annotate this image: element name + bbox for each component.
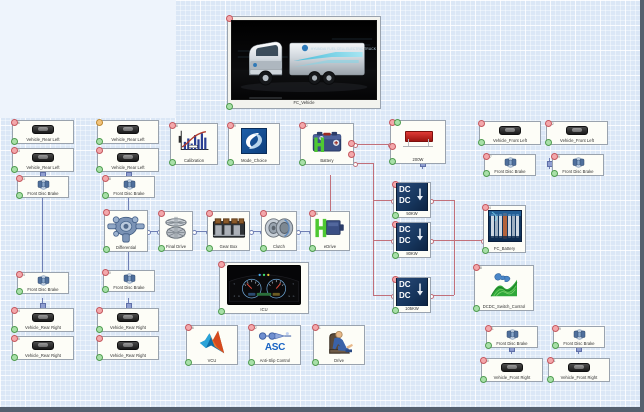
disc-brake-icon	[553, 155, 603, 169]
block-port-red[interactable]	[11, 335, 18, 342]
block-port-green[interactable]	[260, 245, 267, 252]
block-port-green[interactable]	[169, 159, 176, 166]
block-port-red[interactable]	[547, 357, 554, 364]
block-caption: Front Disc Brake	[485, 169, 535, 175]
system-sketch-window: HYUNDAI FUEL CELL ELECTRIC TRUCK	[0, 0, 644, 412]
block-port-red[interactable]	[102, 175, 109, 182]
block-port-red[interactable]	[185, 324, 192, 331]
block-port-red[interactable]	[102, 269, 109, 276]
block-port-red[interactable]	[96, 147, 103, 154]
block-vehicle-rear-right[interactable]: 6 Vehicle_Rear Right	[97, 308, 159, 332]
disc-brake-icon	[18, 273, 68, 287]
block-vehicle-rear-right[interactable]: 5 Vehicle_Rear Right	[97, 336, 159, 360]
block-port-green[interactable]	[392, 307, 399, 314]
asc-icon: ASC	[250, 326, 300, 358]
block-caption: Front Disc Brake	[104, 285, 154, 291]
driver-icon	[314, 326, 364, 358]
block-port-green[interactable]	[473, 305, 480, 312]
block-port-green[interactable]	[11, 166, 18, 173]
block-port-red[interactable]	[16, 175, 23, 182]
block-port-red[interactable]	[158, 210, 165, 217]
block-port-green[interactable]	[11, 354, 18, 361]
block-front-disc-brake[interactable]: 23 Front Disc Brake	[17, 176, 69, 198]
block-port-green[interactable]	[206, 245, 213, 252]
tyre-icon	[13, 149, 73, 165]
tyre-icon	[13, 309, 73, 325]
block-port-green[interactable]	[248, 359, 255, 366]
block-front-disc-brake[interactable]: 19 Front Disc Brake	[552, 154, 604, 176]
block-port-green[interactable]	[392, 252, 399, 259]
block-port-green[interactable]	[185, 359, 192, 366]
block-caption: Vehicle_Rear Right	[98, 325, 158, 331]
block-caption: Vehicle_Rear Right	[13, 325, 73, 331]
block-caption: 105KW	[394, 306, 430, 312]
block-vehicle-rear-right[interactable]: 15 Vehicle_Rear Right	[12, 336, 74, 360]
fc-vehicle-picture-block[interactable]: HYUNDAI FUEL CELL ELECTRIC TRUCK	[227, 16, 381, 109]
fuel-cell-truck-photo-icon: HYUNDAI FUEL CELL ELECTRIC TRUCK	[231, 20, 377, 100]
block-front-disc-brake[interactable]: 21 Front Disc Brake	[486, 326, 538, 348]
block-port-red[interactable]	[16, 271, 23, 278]
block-port-green[interactable]	[392, 212, 399, 219]
block-vehicle-rear-left[interactable]: 8 Vehicle_Rear Left	[97, 148, 159, 172]
disc-brake-icon	[485, 155, 535, 169]
block-caption: Anti-Slip Control	[250, 358, 300, 364]
block-port-red[interactable]	[11, 147, 18, 154]
dcdc-converter-icon: DC DC	[394, 223, 430, 251]
block-caption: Front Disc Brake	[18, 191, 68, 197]
disc-brake-icon	[18, 177, 68, 191]
block-port-red[interactable]	[312, 324, 319, 331]
block-caption: FC_Vehicle	[231, 100, 377, 106]
block-port-green[interactable]	[551, 170, 558, 177]
block-port-red[interactable]	[227, 122, 234, 129]
block-port-red[interactable]	[218, 261, 225, 268]
block-battery[interactable]: 32 ? Battery	[300, 123, 354, 165]
block-vehicle-front-right[interactable]: 10 Vehicle_Front Right	[481, 358, 543, 382]
fuel-cell-stack-icon	[484, 206, 525, 246]
block-port-red[interactable]	[552, 325, 559, 332]
tyre-icon	[98, 121, 158, 137]
block-port-green[interactable]	[158, 245, 165, 252]
block-caption: 200W	[391, 157, 445, 163]
block-vehicle-rear-left[interactable]: 13 Vehicle_Rear Left	[12, 148, 74, 172]
block-fc-battery[interactable]: 34	[483, 205, 526, 253]
block-port-red[interactable]	[299, 122, 306, 129]
block-port-green[interactable]	[96, 166, 103, 173]
block-dcdc-converter-105kw[interactable]: 37 DC DC 105KW	[393, 277, 431, 313]
block-port-green[interactable]	[485, 342, 492, 349]
block-clutch[interactable]: 2 Clutch	[261, 211, 297, 251]
disc-brake-icon	[487, 327, 537, 341]
block-port-green[interactable]	[11, 326, 18, 333]
block-front-disc-brake[interactable]: 39 Front Disc Brake	[553, 326, 605, 348]
matlab-icon	[187, 326, 237, 358]
block-caption: Vehicle_Front Right	[549, 375, 609, 381]
block-caption: Vehicle_Front Left	[547, 138, 607, 144]
block-final-drive[interactable]: 4 Final Drive	[159, 211, 193, 251]
wire-mech	[128, 252, 129, 270]
block-port-red[interactable]	[485, 325, 492, 332]
block-port-red[interactable]	[206, 210, 213, 217]
block-port-green[interactable]	[102, 192, 109, 199]
block-mode-choice[interactable]: 29 Mode_Choice	[228, 123, 280, 165]
block-port-red[interactable]	[11, 307, 18, 314]
block-edrive[interactable]: 25 eDrive	[310, 211, 350, 251]
dcdc-bottom-text: DC	[399, 291, 411, 300]
block-caption: Vehicle_Front Right	[482, 375, 542, 381]
block-front-disc-brake[interactable]: 20 Front Disc Brake	[103, 270, 155, 292]
block-drive[interactable]: 31 Drive	[313, 325, 365, 365]
block-caption: Vehicle_Front Left	[480, 138, 540, 144]
block-port-green[interactable]	[547, 376, 554, 383]
block-caption: 50KW	[394, 211, 430, 217]
block-vcu[interactable]: 26 VCU	[186, 325, 238, 365]
block-caption: Mode_Choice	[229, 158, 279, 164]
block-port-red[interactable]	[96, 335, 103, 342]
block-caption: ICU	[220, 307, 308, 313]
wire-power	[454, 240, 483, 241]
gearbox-icon	[208, 212, 249, 244]
wire-power	[355, 144, 390, 145]
block-vehicle-front-right[interactable]: 11 Vehicle_Front Right	[548, 358, 610, 382]
wire-power	[330, 175, 331, 213]
dcdc-bottom-text: DC	[399, 196, 411, 205]
dcdc-converter-icon: DC DC	[394, 183, 430, 211]
block-caption: Vehicle_Rear Left	[13, 165, 73, 171]
block-port-red[interactable]	[103, 209, 110, 216]
block-port-red[interactable]	[545, 120, 552, 127]
bar-chart-icon	[171, 124, 217, 158]
block-port-red[interactable]	[483, 153, 490, 160]
block-port-red[interactable]	[480, 357, 487, 364]
disc-brake-icon	[104, 271, 154, 285]
dcdc-top-text: DC	[399, 185, 411, 194]
battery-icon: ?	[301, 124, 353, 158]
block-caption: Vehicle_Rear Left	[13, 137, 73, 143]
block-caption: Clutch	[262, 244, 296, 250]
block-dcdc-converter-80kw[interactable]: 36 DC DC 80KW	[393, 222, 431, 258]
block-port-red[interactable]	[309, 210, 316, 217]
tyre-icon	[480, 122, 540, 138]
block-port-green[interactable]	[226, 103, 233, 110]
dcdc-top-text: DC	[399, 280, 411, 289]
block-port-green[interactable]	[11, 138, 18, 145]
block-vehicle-rear-left[interactable]: 9 Vehicle_Rear Left	[97, 120, 159, 144]
block-caption: Front Disc Brake	[553, 169, 603, 175]
tyre-icon	[13, 121, 73, 137]
block-port-green[interactable]	[227, 159, 234, 166]
block-front-disc-brake[interactable]: 18 Front Disc Brake	[103, 176, 155, 198]
mesh-surface-icon	[475, 266, 533, 304]
final-drive-icon	[160, 212, 192, 244]
dcdc-top-text: DC	[399, 225, 411, 234]
block-port-red[interactable]	[551, 153, 558, 160]
block-load-resistor[interactable]: 30 200W	[390, 120, 446, 164]
block-port-green[interactable]	[16, 192, 23, 199]
block-differential[interactable]: 7 Differential	[104, 210, 148, 252]
block-caption: Vehicle_Rear Right	[13, 353, 73, 359]
block-port-red[interactable]	[11, 119, 18, 126]
block-port-green[interactable]	[552, 342, 559, 349]
block-caption: Calibration	[171, 158, 217, 164]
block-port-green[interactable]	[483, 170, 490, 177]
block-caption: Battery	[301, 158, 353, 164]
block-caption: Gear Box	[208, 244, 249, 250]
block-front-disc-brake[interactable]: 24 Front Disc Brake	[17, 272, 69, 294]
tyre-icon	[549, 359, 609, 375]
block-dcdc-converter-50kw[interactable]: 35 DC DC 50KW	[393, 182, 431, 218]
block-caption: Vehicle_Rear Left	[98, 137, 158, 143]
wire-power	[373, 163, 374, 295]
block-port-green[interactable]	[96, 354, 103, 361]
block-caption: FC_Battery	[484, 246, 525, 252]
block-caption: Front Disc Brake	[104, 191, 154, 197]
instrument-cluster-icon: PR ND 00	[220, 263, 308, 307]
dcdc-bottom-text: DC	[399, 236, 411, 245]
block-port-green[interactable]	[16, 288, 23, 295]
differential-icon	[105, 211, 147, 245]
block-port-green[interactable]	[309, 245, 316, 252]
page-blank-area	[0, 0, 176, 118]
disc-brake-icon	[104, 177, 154, 191]
block-caption: 80KW	[394, 251, 430, 257]
wire-mech	[42, 196, 43, 272]
block-icu[interactable]: 27	[219, 262, 309, 314]
block-caption: Vehicle_Rear Right	[98, 353, 158, 359]
block-vehicle-rear-right[interactable]: 14 Vehicle_Rear Right	[12, 308, 74, 332]
block-front-disc-brake[interactable]: 17 Front Disc Brake	[484, 154, 536, 176]
block-port-green[interactable]	[299, 159, 306, 166]
dcdc-converter-icon: DC DC	[394, 278, 430, 306]
disc-brake-icon	[554, 327, 604, 341]
block-dcdc-switch-control[interactable]: 38 DCDC_Switch_Control	[474, 265, 534, 311]
block-port-green[interactable]	[102, 286, 109, 293]
block-caption: Front Disc Brake	[554, 341, 604, 347]
block-port-green[interactable]	[545, 139, 552, 146]
mode-choice-icon	[229, 124, 279, 158]
block-port-green[interactable]	[103, 246, 110, 253]
block-port-green[interactable]	[312, 359, 319, 366]
block-port-red[interactable]	[96, 119, 103, 126]
tyre-icon	[13, 337, 73, 353]
block-anti-slip-control[interactable]: 22 ASC Anti-Slip Control	[249, 325, 301, 365]
tyre-icon	[482, 359, 542, 375]
wire-power	[373, 295, 393, 296]
block-caption: Drive	[314, 358, 364, 364]
resistor-icon	[391, 121, 445, 157]
block-calibration[interactable]: 28 Calibration	[170, 123, 218, 165]
edrive-icon	[311, 212, 349, 244]
block-port-green[interactable]	[482, 247, 489, 254]
block-port-red[interactable]	[348, 140, 355, 147]
block-caption: Front Disc Brake	[487, 341, 537, 347]
block-port-red[interactable]	[169, 122, 176, 129]
block-vehicle-front-left[interactable]: 12 Vehicle_Front Left	[546, 121, 608, 145]
tyre-icon	[98, 149, 158, 165]
wire-mech	[128, 196, 129, 210]
tyre-icon	[547, 122, 607, 138]
block-port-green[interactable]	[478, 139, 485, 146]
block-caption: DCDC_Switch_Control	[475, 304, 533, 310]
tyre-icon	[98, 309, 158, 325]
wire-power	[373, 240, 393, 241]
block-port-green[interactable]	[389, 158, 396, 165]
block-port-green[interactable]	[96, 326, 103, 333]
tyre-icon	[98, 337, 158, 353]
block-port-red[interactable]	[248, 324, 255, 331]
block-port-red[interactable]	[96, 307, 103, 314]
block-port-green[interactable]	[218, 308, 225, 315]
asc-badge-label: ASC	[265, 342, 285, 353]
block-port-green[interactable]	[394, 119, 401, 126]
block-port-red[interactable]	[389, 143, 396, 150]
block-port-red[interactable]	[348, 151, 355, 158]
block-port-red[interactable]	[473, 264, 480, 271]
clutch-icon	[262, 212, 296, 244]
block-gear-box[interactable]: 3 Gear Box	[207, 211, 250, 251]
block-port-green[interactable]	[96, 138, 103, 145]
block-port-red[interactable]	[478, 120, 485, 127]
block-caption: eDrive	[311, 244, 349, 250]
svg-text:HYUNDAI FUEL CELL ELECTRIC TRU: HYUNDAI FUEL CELL ELECTRIC TRUCK	[311, 47, 376, 51]
block-port-red[interactable]	[260, 210, 267, 217]
block-caption: VCU	[187, 358, 237, 364]
block-caption: Front Disc Brake	[18, 287, 68, 293]
block-vehicle-front-left[interactable]: 1 Vehicle_Front Left	[479, 121, 541, 145]
block-caption: Differential	[105, 245, 147, 251]
block-caption: Vehicle_Rear Left	[98, 165, 158, 171]
wire-power	[373, 200, 393, 201]
block-vehicle-rear-left[interactable]: 16 Vehicle_Rear Left	[12, 120, 74, 144]
block-port-green[interactable]	[480, 376, 487, 383]
wire-power	[454, 200, 455, 295]
